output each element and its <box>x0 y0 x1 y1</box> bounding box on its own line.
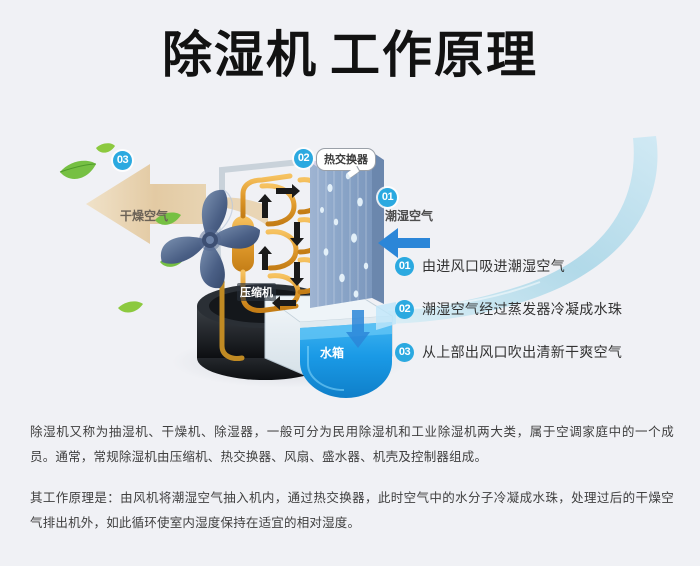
evaporator-fins <box>310 152 384 308</box>
legend-badge-02: 02 <box>395 300 414 319</box>
legend-text-02: 潮湿空气经过蒸发器冷凝成水珠 <box>422 299 622 319</box>
title-part1: 除湿机 <box>162 27 318 83</box>
label-dry-air: 干燥空气 <box>120 207 168 224</box>
legend-badge-03: 03 <box>395 343 414 362</box>
label-water-tank: 水箱 <box>320 344 344 361</box>
list-item: 02 潮湿空气经过蒸发器冷凝成水珠 <box>395 295 685 323</box>
badge-02-diagram: 02 <box>294 149 313 168</box>
water-tank <box>300 322 392 398</box>
badge-01-diagram: 01 <box>378 188 397 207</box>
page-title: 除湿机工作原理 <box>0 26 700 85</box>
label-heat-exchanger: 热交换器 <box>316 148 376 171</box>
list-item: 03 从上部出风口吹出清新干爽空气 <box>395 338 685 366</box>
legend-list: 01 由进风口吸进潮湿空气 02 潮湿空气经过蒸发器冷凝成水珠 03 从上部出风… <box>395 252 685 381</box>
legend-badge-01: 01 <box>395 257 414 276</box>
title-part2: 工作原理 <box>330 27 538 83</box>
label-compressor: 压缩机 <box>237 283 276 301</box>
badge-03-diagram: 03 <box>113 151 132 170</box>
paragraph-2: 其工作原理是：由风机将潮湿空气抽入机内，通过热交换器，此时空气中的水分子冷凝成水… <box>30 486 674 536</box>
label-humid-air: 潮湿空气 <box>385 207 433 224</box>
list-item: 01 由进风口吸进潮湿空气 <box>395 252 685 280</box>
legend-text-01: 由进风口吸进潮湿空气 <box>422 256 565 276</box>
title-text: 除湿机工作原理 <box>162 26 538 85</box>
legend-text-03: 从上部出风口吹出清新干爽空气 <box>422 342 622 362</box>
paragraph-1: 除湿机又称为抽湿机、干燥机、除湿器，一般可分为民用除湿机和工业除湿机两大类，属于… <box>30 420 674 470</box>
body-copy: 除湿机又称为抽湿机、干燥机、除湿器，一般可分为民用除湿机和工业除湿机两大类，属于… <box>30 420 674 536</box>
